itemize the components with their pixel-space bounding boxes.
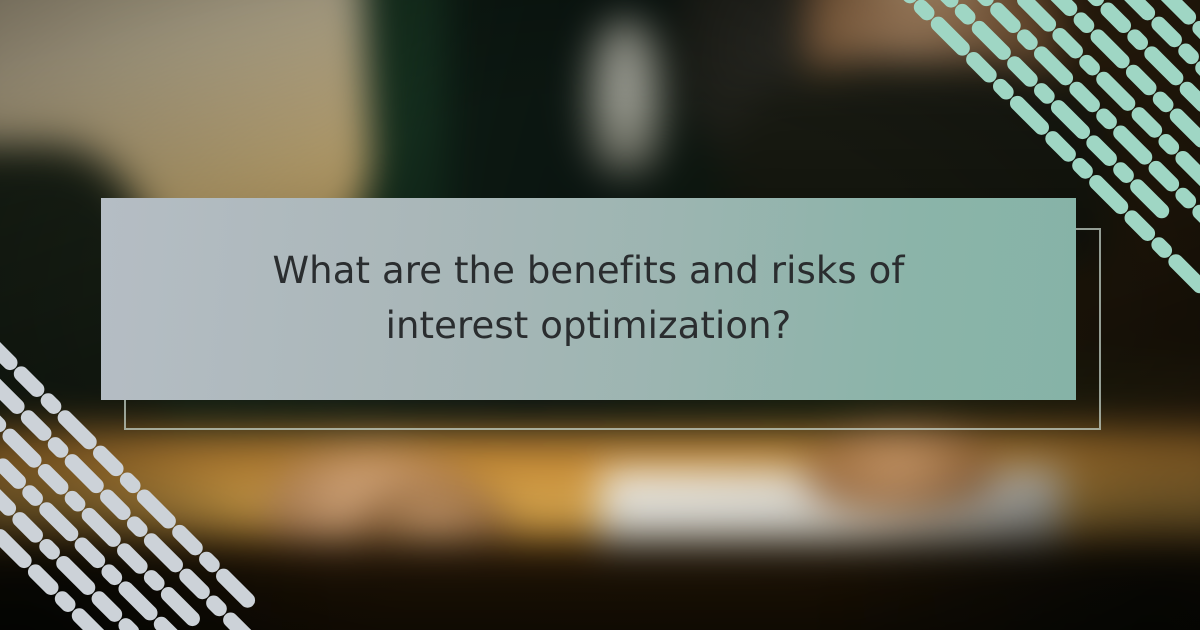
- headline-text: What are the benefits and risks of inter…: [219, 244, 959, 354]
- headline-card: What are the benefits and risks of inter…: [101, 198, 1076, 400]
- share-card-canvas: What are the benefits and risks of inter…: [0, 0, 1200, 630]
